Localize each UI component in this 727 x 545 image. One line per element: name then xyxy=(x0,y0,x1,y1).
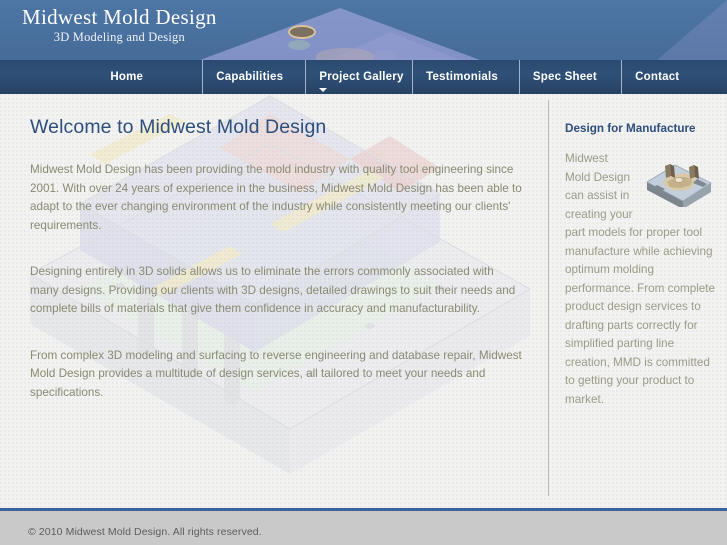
mold-core-insert-render[interactable] xyxy=(641,152,717,207)
mold-blob-secondary-graphic xyxy=(374,50,398,60)
sidebar: Design for Manufacture xyxy=(565,122,717,409)
main-navigation: Home Capabilities Project Gallery Testim… xyxy=(0,60,727,94)
site-footer: © 2010 Midwest Mold Design. All rights r… xyxy=(0,508,727,545)
header-corner-wedge xyxy=(657,0,727,60)
logo-title: Midwest Mold Design xyxy=(22,5,217,29)
content-area: Welcome to Midwest Mold Design Midwest M… xyxy=(0,94,727,508)
main-column: Welcome to Midwest Mold Design Midwest M… xyxy=(30,116,530,430)
nav-label-home: Home xyxy=(110,71,143,83)
copyright-text: © 2010 Midwest Mold Design. All rights r… xyxy=(28,526,262,538)
page-root: Midwest Mold Design 3D Modeling and Desi… xyxy=(0,0,727,545)
nav-label-project-gallery: Project Gallery xyxy=(319,71,403,83)
intro-paragraph-3: From complex 3D modeling and surfacing t… xyxy=(30,347,522,403)
nav-item-contact[interactable]: Contact xyxy=(621,60,727,94)
chevron-down-icon xyxy=(319,88,327,92)
page-title: Welcome to Midwest Mold Design xyxy=(30,116,530,139)
nav-left-spacer xyxy=(0,60,97,94)
nav-item-capabilities[interactable]: Capabilities xyxy=(202,60,305,94)
nav-label-capabilities: Capabilities xyxy=(216,71,283,83)
nav-item-testimonials[interactable]: Testimonials xyxy=(412,60,519,94)
sprue-ring-graphic xyxy=(288,25,316,39)
nav-item-home[interactable]: Home xyxy=(97,60,202,94)
site-header: Midwest Mold Design 3D Modeling and Desi… xyxy=(0,0,727,60)
mold-blob-tertiary-graphic xyxy=(288,40,310,50)
sidebar-heading: Design for Manufacture xyxy=(565,122,717,135)
nav-item-project-gallery[interactable]: Project Gallery xyxy=(305,60,412,94)
logo-tagline: 3D Modeling and Design xyxy=(22,30,217,45)
column-divider xyxy=(548,100,549,496)
intro-paragraph-1: Midwest Mold Design has been providing t… xyxy=(30,161,522,235)
site-logo[interactable]: Midwest Mold Design 3D Modeling and Desi… xyxy=(22,5,217,45)
nav-label-contact: Contact xyxy=(635,71,679,83)
nav-label-testimonials: Testimonials xyxy=(426,71,498,83)
intro-paragraph-2: Designing entirely in 3D solids allows u… xyxy=(30,263,522,319)
nav-label-spec-sheet: Spec Sheet xyxy=(533,71,597,83)
mold-blob-graphic xyxy=(316,48,374,60)
nav-item-spec-sheet[interactable]: Spec Sheet xyxy=(519,60,621,94)
